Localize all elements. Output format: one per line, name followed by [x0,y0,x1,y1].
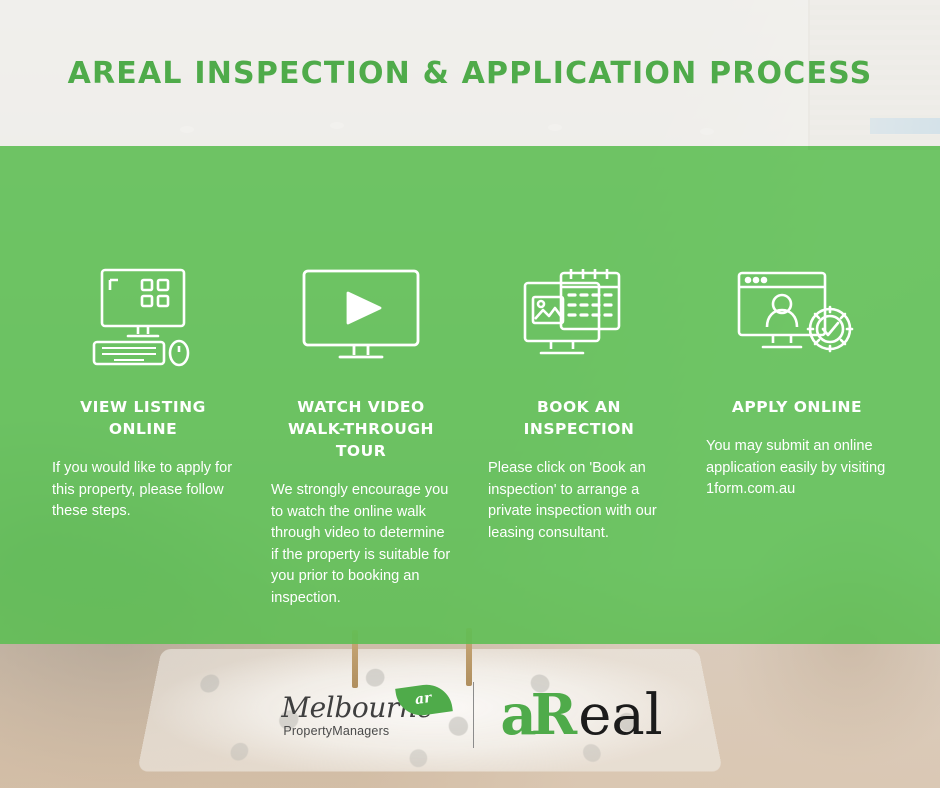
step-body: Please click on 'Book an inspection' to … [488,458,670,544]
poster-canvas: AREAL INSPECTION & APPLICATION PROCESS [0,0,940,788]
areal-logo: a R eal [500,687,662,744]
step-title: APPLY ONLINE [732,396,862,418]
step-title: WATCH VIDEO WALK-THROUGH TOUR [266,396,456,462]
steps-row: VIEW LISTING ONLINE If you would like to… [0,146,940,644]
logo-divider [473,682,474,748]
areal-letter-r: R [531,687,578,743]
step-body: You may submit an online application eas… [706,436,888,501]
step-body: If you would like to apply for this prop… [52,458,234,523]
page-title: AREAL INSPECTION & APPLICATION PROCESS [0,56,940,91]
video-play-monitor-icon [300,260,422,378]
calendar-booking-monitor-icon [521,260,637,378]
leaf-monogram: ar [414,690,433,708]
melbourne-property-managers-logo: ar Melbourne PropertyManagers [277,679,447,751]
step-title: BOOK AN INSPECTION [484,396,674,440]
step-card-book-inspection: BOOK AN INSPECTION Please click on 'Book… [470,146,688,644]
step-card-apply-online: APPLY ONLINE You may submit an online ap… [688,146,906,644]
property-managers-subtitle: PropertyManagers [277,724,389,738]
step-card-watch-video: WATCH VIDEO WALK-THROUGH TOUR We strongl… [252,146,470,644]
online-application-person-gear-icon [735,260,859,378]
areal-letters-eal: eal [578,688,662,744]
step-body: We strongly encourage you to watch the o… [271,480,451,609]
step-title: VIEW LISTING ONLINE [48,396,238,440]
step-card-view-listing: VIEW LISTING ONLINE If you would like to… [34,146,252,644]
footer-logos: ar Melbourne PropertyManagers a R eal [0,660,940,770]
desktop-computer-listing-icon [88,260,198,378]
